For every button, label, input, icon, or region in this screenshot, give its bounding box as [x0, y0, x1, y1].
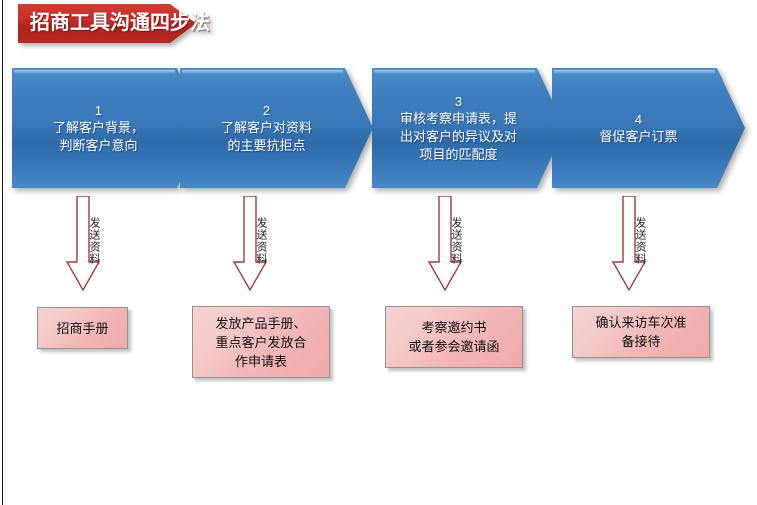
step-chevron-3[interactable]: 3 审核考察申请表，提 出对客户的异议及对 项目的匹配度: [372, 68, 565, 188]
flow-arrow-label-2: 发送资料: [233, 202, 267, 280]
step-number-3: 3: [455, 93, 462, 110]
step-number-2: 2: [263, 102, 270, 119]
output-box-text-2: 发放产品手册、 重点客户发放合 作申请表: [211, 314, 310, 371]
output-box-2[interactable]: 发放产品手册、 重点客户发放合 作申请表: [192, 306, 330, 378]
flow-arrow-label-4: 发送资料: [612, 202, 646, 280]
output-box-text-3: 考察邀约书 或者参会邀请函: [404, 318, 503, 356]
step-label-2: 了解客户对资料 的主要抗拒点: [221, 119, 312, 155]
chevron-body-2: 2 了解客户对资料 的主要抗拒点: [180, 68, 373, 188]
flow-arrow-label-1: 发送资料: [66, 202, 100, 280]
output-box-text-1: 招商手册: [52, 319, 112, 338]
flow-arrow-label-3: 发送资料: [428, 202, 462, 280]
page-title: 招商工具沟通四步法: [30, 4, 172, 43]
title-banner: 招商工具沟通四步法: [18, 4, 196, 43]
flow-arrow-down-1: 发送资料: [66, 196, 100, 292]
flow-arrow-down-4: 发送资料: [612, 196, 646, 292]
flow-arrow-down-3: 发送资料: [428, 196, 462, 292]
slide-canvas: 招商工具沟通四步法 1 了解客户背景， 判断客户意向 2 了解客户对资料 的主要…: [0, 0, 757, 505]
output-box-3[interactable]: 考察邀约书 或者参会邀请函: [385, 306, 523, 368]
chevron-body-3: 3 审核考察申请表，提 出对客户的异议及对 项目的匹配度: [372, 68, 565, 188]
step-label-4: 督促客户订票: [599, 128, 677, 146]
chevron-body-1: 1 了解客户背景， 判断客户意向: [12, 68, 205, 188]
output-box-text-4: 确认来访车次准 备接待: [591, 313, 690, 351]
slide-left-edge-rule: [2, 0, 3, 505]
step-number-4: 4: [635, 111, 642, 128]
step-number-1: 1: [95, 102, 102, 119]
step-label-1: 了解客户背景， 判断客户意向: [53, 119, 144, 155]
output-box-4[interactable]: 确认来访车次准 备接待: [572, 306, 710, 358]
chevron-body-4: 4 督促客户订票: [552, 68, 745, 188]
flow-arrow-down-2: 发送资料: [233, 196, 267, 292]
step-chevron-1[interactable]: 1 了解客户背景， 判断客户意向: [12, 68, 205, 188]
output-box-1[interactable]: 招商手册: [37, 307, 128, 349]
step-chevron-4[interactable]: 4 督促客户订票: [552, 68, 745, 188]
step-chevron-2[interactable]: 2 了解客户对资料 的主要抗拒点: [180, 68, 373, 188]
step-label-3: 审核考察申请表，提 出对客户的异议及对 项目的匹配度: [400, 110, 517, 164]
